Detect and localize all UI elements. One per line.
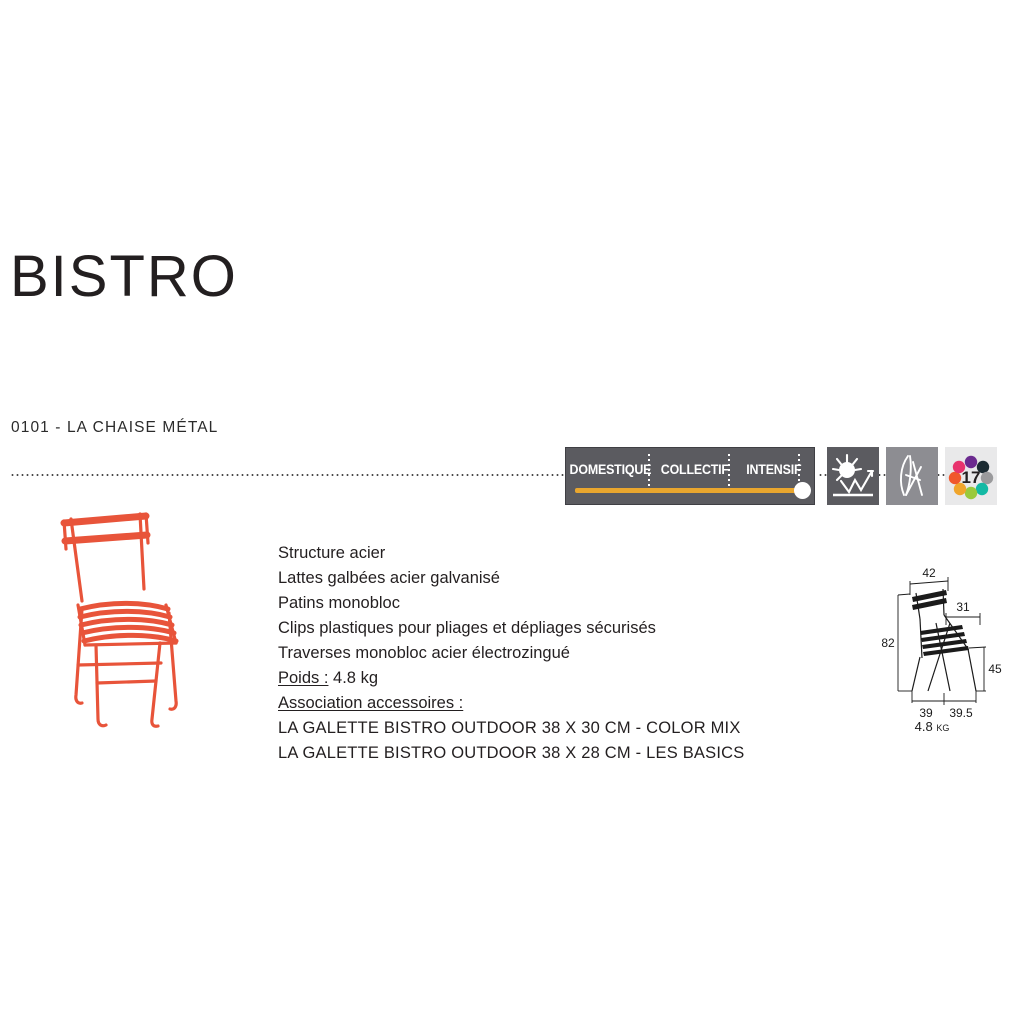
usage-segment-domestique[interactable]: DOMESTIQUE: [570, 462, 652, 477]
spec-line: Clips plastiques pour pliages et dépliag…: [278, 616, 798, 641]
dimension-schematic: 42 82 31 45 39 39.5 4.8 KG: [876, 563, 1008, 733]
dim-base-front: 39: [919, 706, 933, 720]
divider-dot-segment: [818, 474, 827, 476]
page-title: BISTRO: [10, 248, 238, 306]
color-count-label: 17: [962, 468, 981, 487]
weight-label: Poids :: [278, 669, 328, 687]
usage-slider-knob[interactable]: [794, 482, 811, 499]
color-wheel-icon: 17: [945, 447, 997, 505]
usage-meter-labels: DOMESTIQUE COLLECTIF INTENSIF: [566, 456, 814, 482]
dim-weight: 4.8 KG: [915, 719, 950, 733]
spec-line: Structure acier: [278, 541, 798, 566]
accessories-heading: Association accessoires :: [278, 691, 798, 716]
spec-line: Patins monobloc: [278, 591, 798, 616]
dim-top-width: 42: [922, 566, 936, 580]
dim-seat-height: 45: [988, 662, 1002, 676]
spec-line: Traverses monobloc acier électrozingué: [278, 641, 798, 666]
accessories-label: Association accessoires :: [278, 694, 463, 712]
accessory-item: LA GALETTE BISTRO OUTDOOR 38 X 28 CM - L…: [278, 741, 798, 766]
folding-chair-icon: [886, 447, 938, 505]
bistro-chair-photo: [40, 505, 210, 735]
weather-resistance-badge: [827, 447, 879, 505]
accessory-item: LA GALETTE BISTRO OUTDOOR 38 X 30 CM - C…: [278, 716, 798, 741]
color-options-badge[interactable]: 17: [945, 447, 997, 505]
sun-weather-icon: [827, 447, 879, 505]
dim-seat-depth: 31: [956, 600, 970, 614]
specifications-list: Structure acier Lattes galbées acier gal…: [278, 541, 798, 766]
usage-intensity-meter[interactable]: DOMESTIQUE COLLECTIF INTENSIF: [565, 447, 815, 505]
usage-slider-track[interactable]: [575, 488, 807, 493]
folding-feature-badge: [886, 447, 938, 505]
weight-line: Poids : 4.8 kg: [278, 666, 798, 691]
technical-dimension-drawing: 42 82 31 45 39 39.5 4.8 KG: [876, 563, 1008, 733]
chair-illustration: [40, 505, 210, 735]
weight-value: 4.8 kg: [333, 669, 378, 687]
divider-dotted-rule: [10, 474, 565, 476]
product-code-label: 0101 - LA CHAISE MÉTAL: [11, 419, 218, 437]
dim-total-height: 82: [881, 636, 895, 650]
usage-segment-collectif[interactable]: COLLECTIF: [658, 462, 731, 477]
dim-base-side: 39.5: [949, 706, 973, 720]
spec-line: Lattes galbées acier galvanisé: [278, 566, 798, 591]
